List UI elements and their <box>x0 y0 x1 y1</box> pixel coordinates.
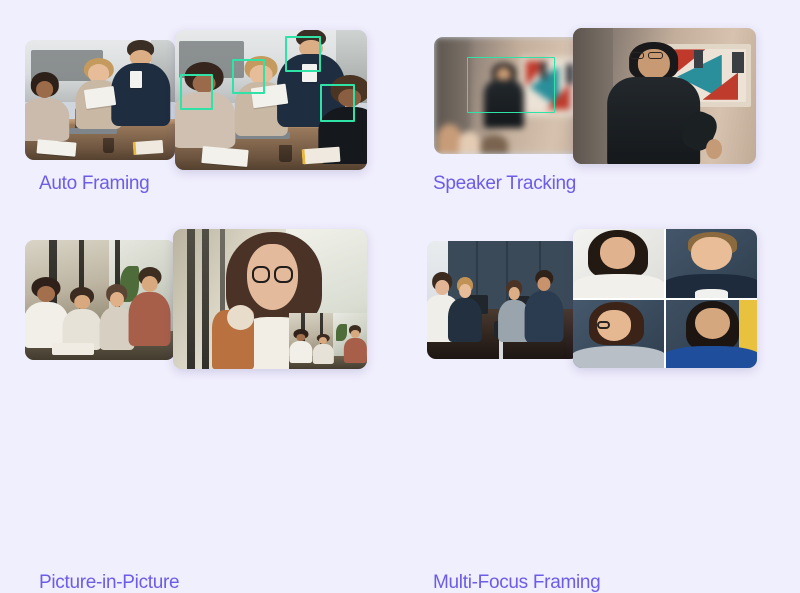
pip-inset-thumbnail[interactable] <box>289 313 367 369</box>
pip-wide-image[interactable] <box>25 240 175 360</box>
auto-framing-detection-image[interactable] <box>175 30 367 170</box>
feature-card-speaker-tracking: Speaker Tracking <box>400 0 800 203</box>
speaker-tracking-wide-image[interactable] <box>434 37 589 154</box>
feature-label-picture-in-picture: Picture-in-Picture <box>39 573 179 592</box>
feature-card-auto-framing: Auto Framing <box>0 0 400 203</box>
feature-showcase-page: Auto Framing <box>0 0 800 406</box>
pip-portrait-image[interactable] <box>173 229 367 369</box>
feature-label-speaker-tracking: Speaker Tracking <box>433 174 576 193</box>
feature-label-multi-focus-framing: Multi-Focus Framing <box>433 573 600 592</box>
feature-card-multi-focus-framing: Multi-Focus Framing <box>400 203 800 406</box>
gallery-tile-4[interactable] <box>666 300 757 369</box>
gallery-tile-2[interactable] <box>666 229 757 298</box>
gallery-tile-3[interactable] <box>573 300 664 369</box>
multi-focus-gallery-grid[interactable] <box>573 229 757 368</box>
gallery-tile-1[interactable] <box>573 229 664 298</box>
multi-focus-wide-image[interactable] <box>427 241 579 359</box>
feature-card-picture-in-picture: Picture-in-Picture <box>0 203 400 406</box>
auto-framing-wide-image[interactable] <box>25 40 175 160</box>
speaker-tracking-closeup-image[interactable] <box>573 28 756 164</box>
feature-label-auto-framing: Auto Framing <box>39 174 149 193</box>
